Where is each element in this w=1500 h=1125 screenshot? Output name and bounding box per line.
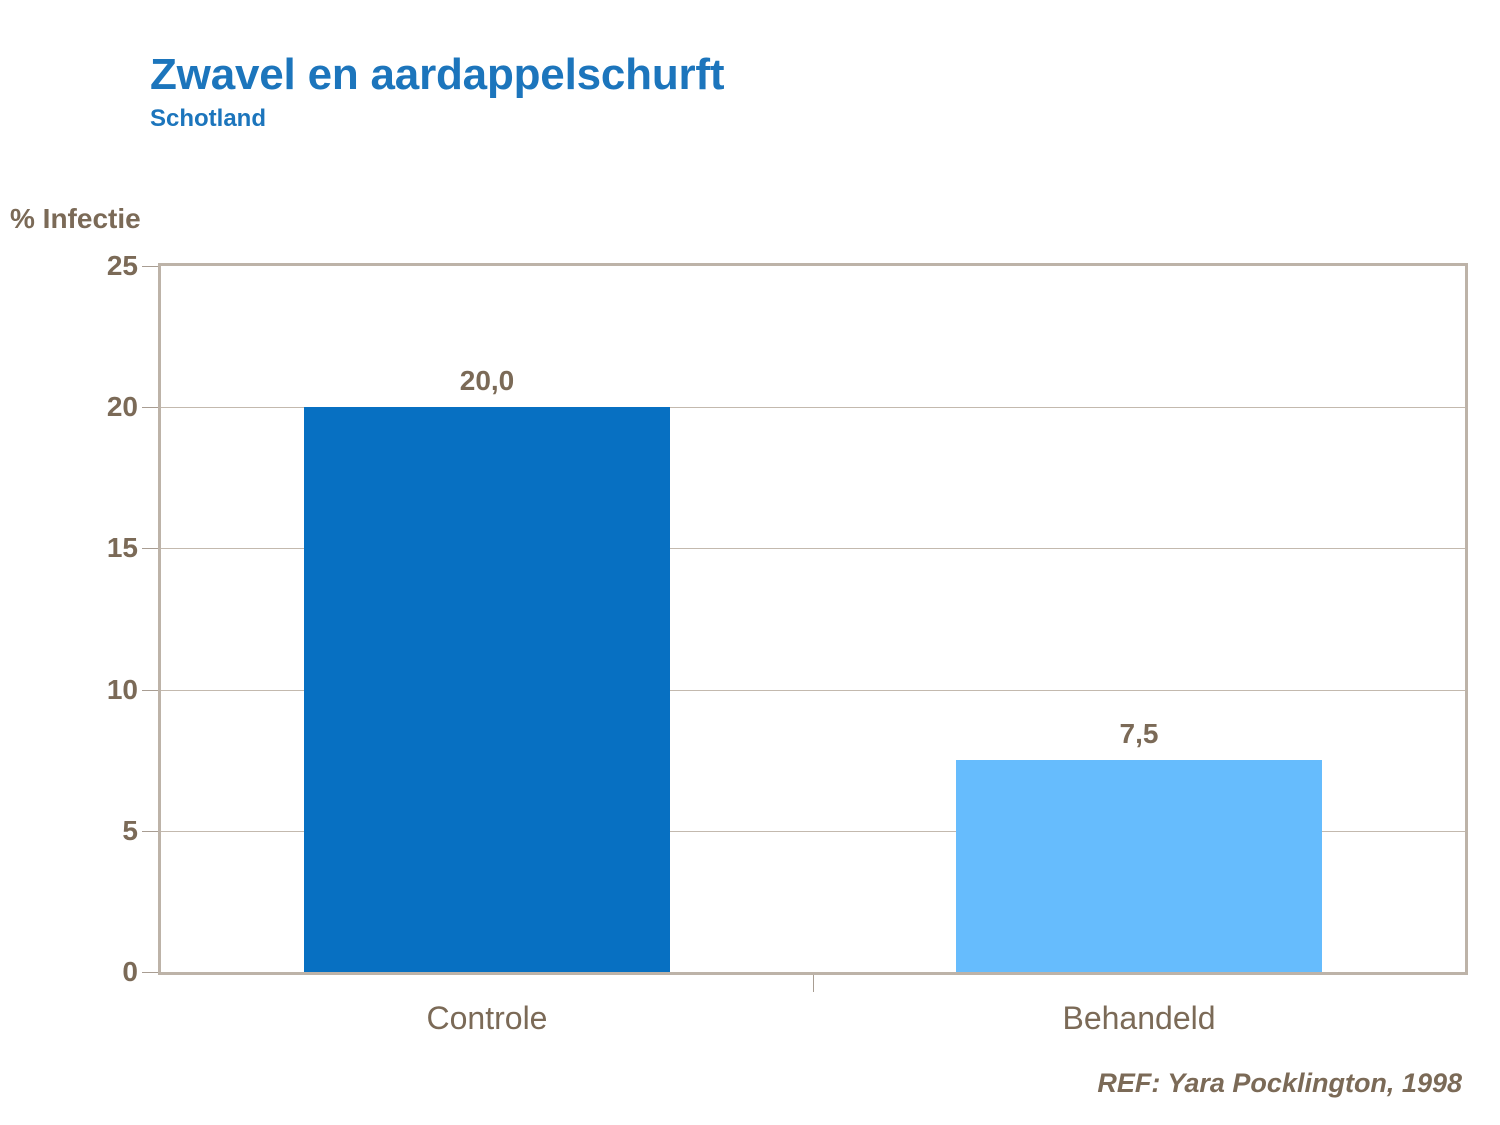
y-axis-tick-label: 20 xyxy=(107,393,138,421)
x-axis-category-label: Behandeld xyxy=(1062,1000,1215,1037)
y-axis-tick-mark xyxy=(142,690,158,691)
y-axis-tick-label: 10 xyxy=(107,676,138,704)
page-title: Zwavel en aardappelschurft xyxy=(150,52,1350,98)
y-axis-tick-label: 0 xyxy=(122,958,138,986)
page-subtitle: Schotland xyxy=(150,106,1350,132)
y-axis-tick-mark xyxy=(142,407,158,408)
y-axis-title: % Infectie xyxy=(10,203,141,235)
bar-controle xyxy=(304,407,669,972)
reference-note: REF: Yara Pocklington, 1998 xyxy=(1097,1068,1462,1099)
y-axis-tick-mark xyxy=(142,548,158,549)
plot-area xyxy=(158,263,1468,975)
y-axis-tick-mark xyxy=(142,831,158,832)
y-axis-tick-label: 5 xyxy=(122,817,138,845)
x-axis-category-label: Controle xyxy=(427,1000,548,1037)
bar-value-label: 20,0 xyxy=(460,365,515,397)
y-axis-tick-mark xyxy=(142,266,158,267)
bar-value-label: 7,5 xyxy=(1120,718,1159,750)
bar-behandeld xyxy=(956,760,1321,972)
y-axis-tick-label: 15 xyxy=(107,534,138,562)
y-axis-tick-mark xyxy=(142,972,158,973)
title-block: Zwavel en aardappelschurft Schotland xyxy=(150,52,1350,133)
plot-inner xyxy=(161,266,1465,972)
x-axis-tick-mark xyxy=(813,975,814,992)
y-axis-tick-label: 25 xyxy=(107,252,138,280)
